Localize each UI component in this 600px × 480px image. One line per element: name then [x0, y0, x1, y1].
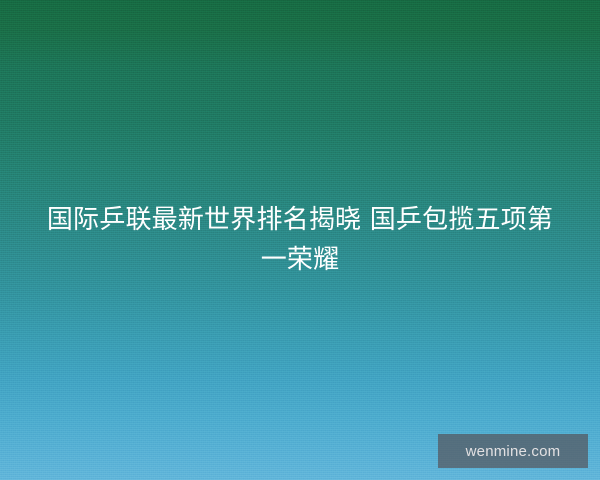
article-cover-card: 国际乒联最新世界排名揭晓 国乒包揽五项第一荣耀 wenmine.com	[0, 0, 600, 480]
cover-headline: 国际乒联最新世界排名揭晓 国乒包揽五项第一荣耀	[36, 200, 564, 280]
watermark-label: wenmine.com	[466, 444, 561, 459]
headline-container: 国际乒联最新世界排名揭晓 国乒包揽五项第一荣耀	[0, 0, 600, 480]
watermark-badge: wenmine.com	[438, 434, 588, 468]
